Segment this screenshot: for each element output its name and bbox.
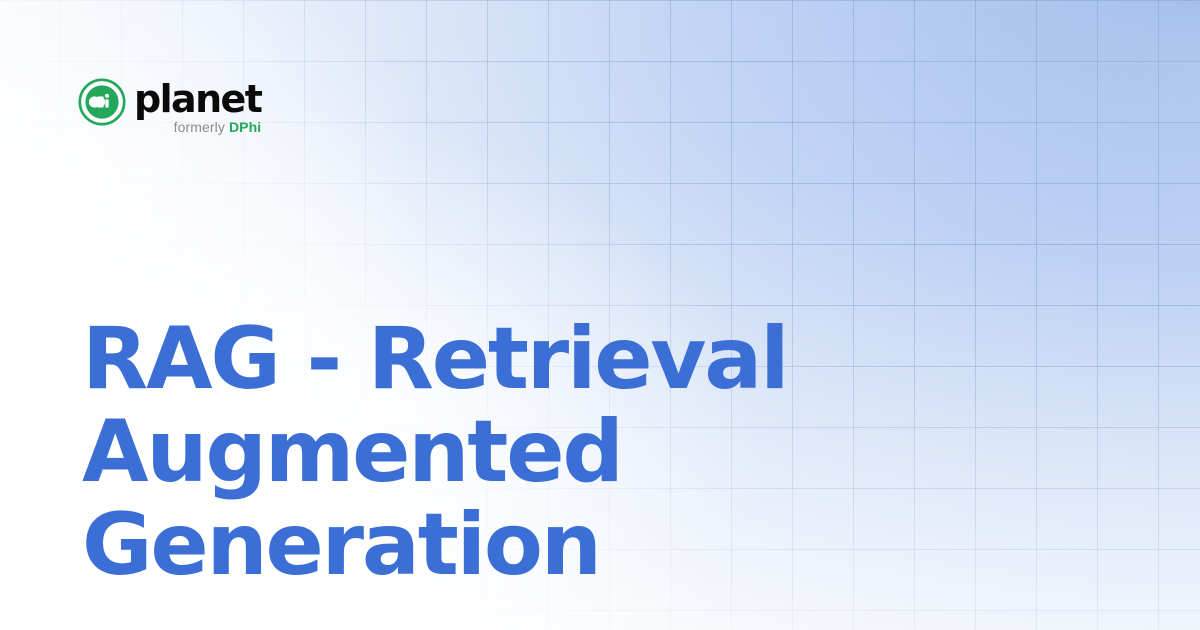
page-title-line-2: Augmented [82, 406, 787, 499]
logo-text-group: planet formerly DPhi [134, 78, 261, 136]
logo-wordmark: planet [134, 78, 261, 120]
logo-tagline-prefix: formerly [174, 119, 225, 135]
ai-planet-logo[interactable]: planet formerly DPhi [78, 78, 261, 136]
logo-tagline: formerly DPhi [174, 119, 262, 136]
page-title-line-1: RAG - Retrieval [82, 313, 787, 406]
og-banner: planet formerly DPhi RAG - Retrieval Aug… [0, 0, 1200, 630]
page-title-line-3: Generation [82, 499, 787, 592]
ai-planet-circle-logo-icon [78, 78, 126, 126]
page-title: RAG - Retrieval Augmented Generation [82, 313, 787, 592]
logo-tagline-brand: DPhi [229, 119, 261, 135]
